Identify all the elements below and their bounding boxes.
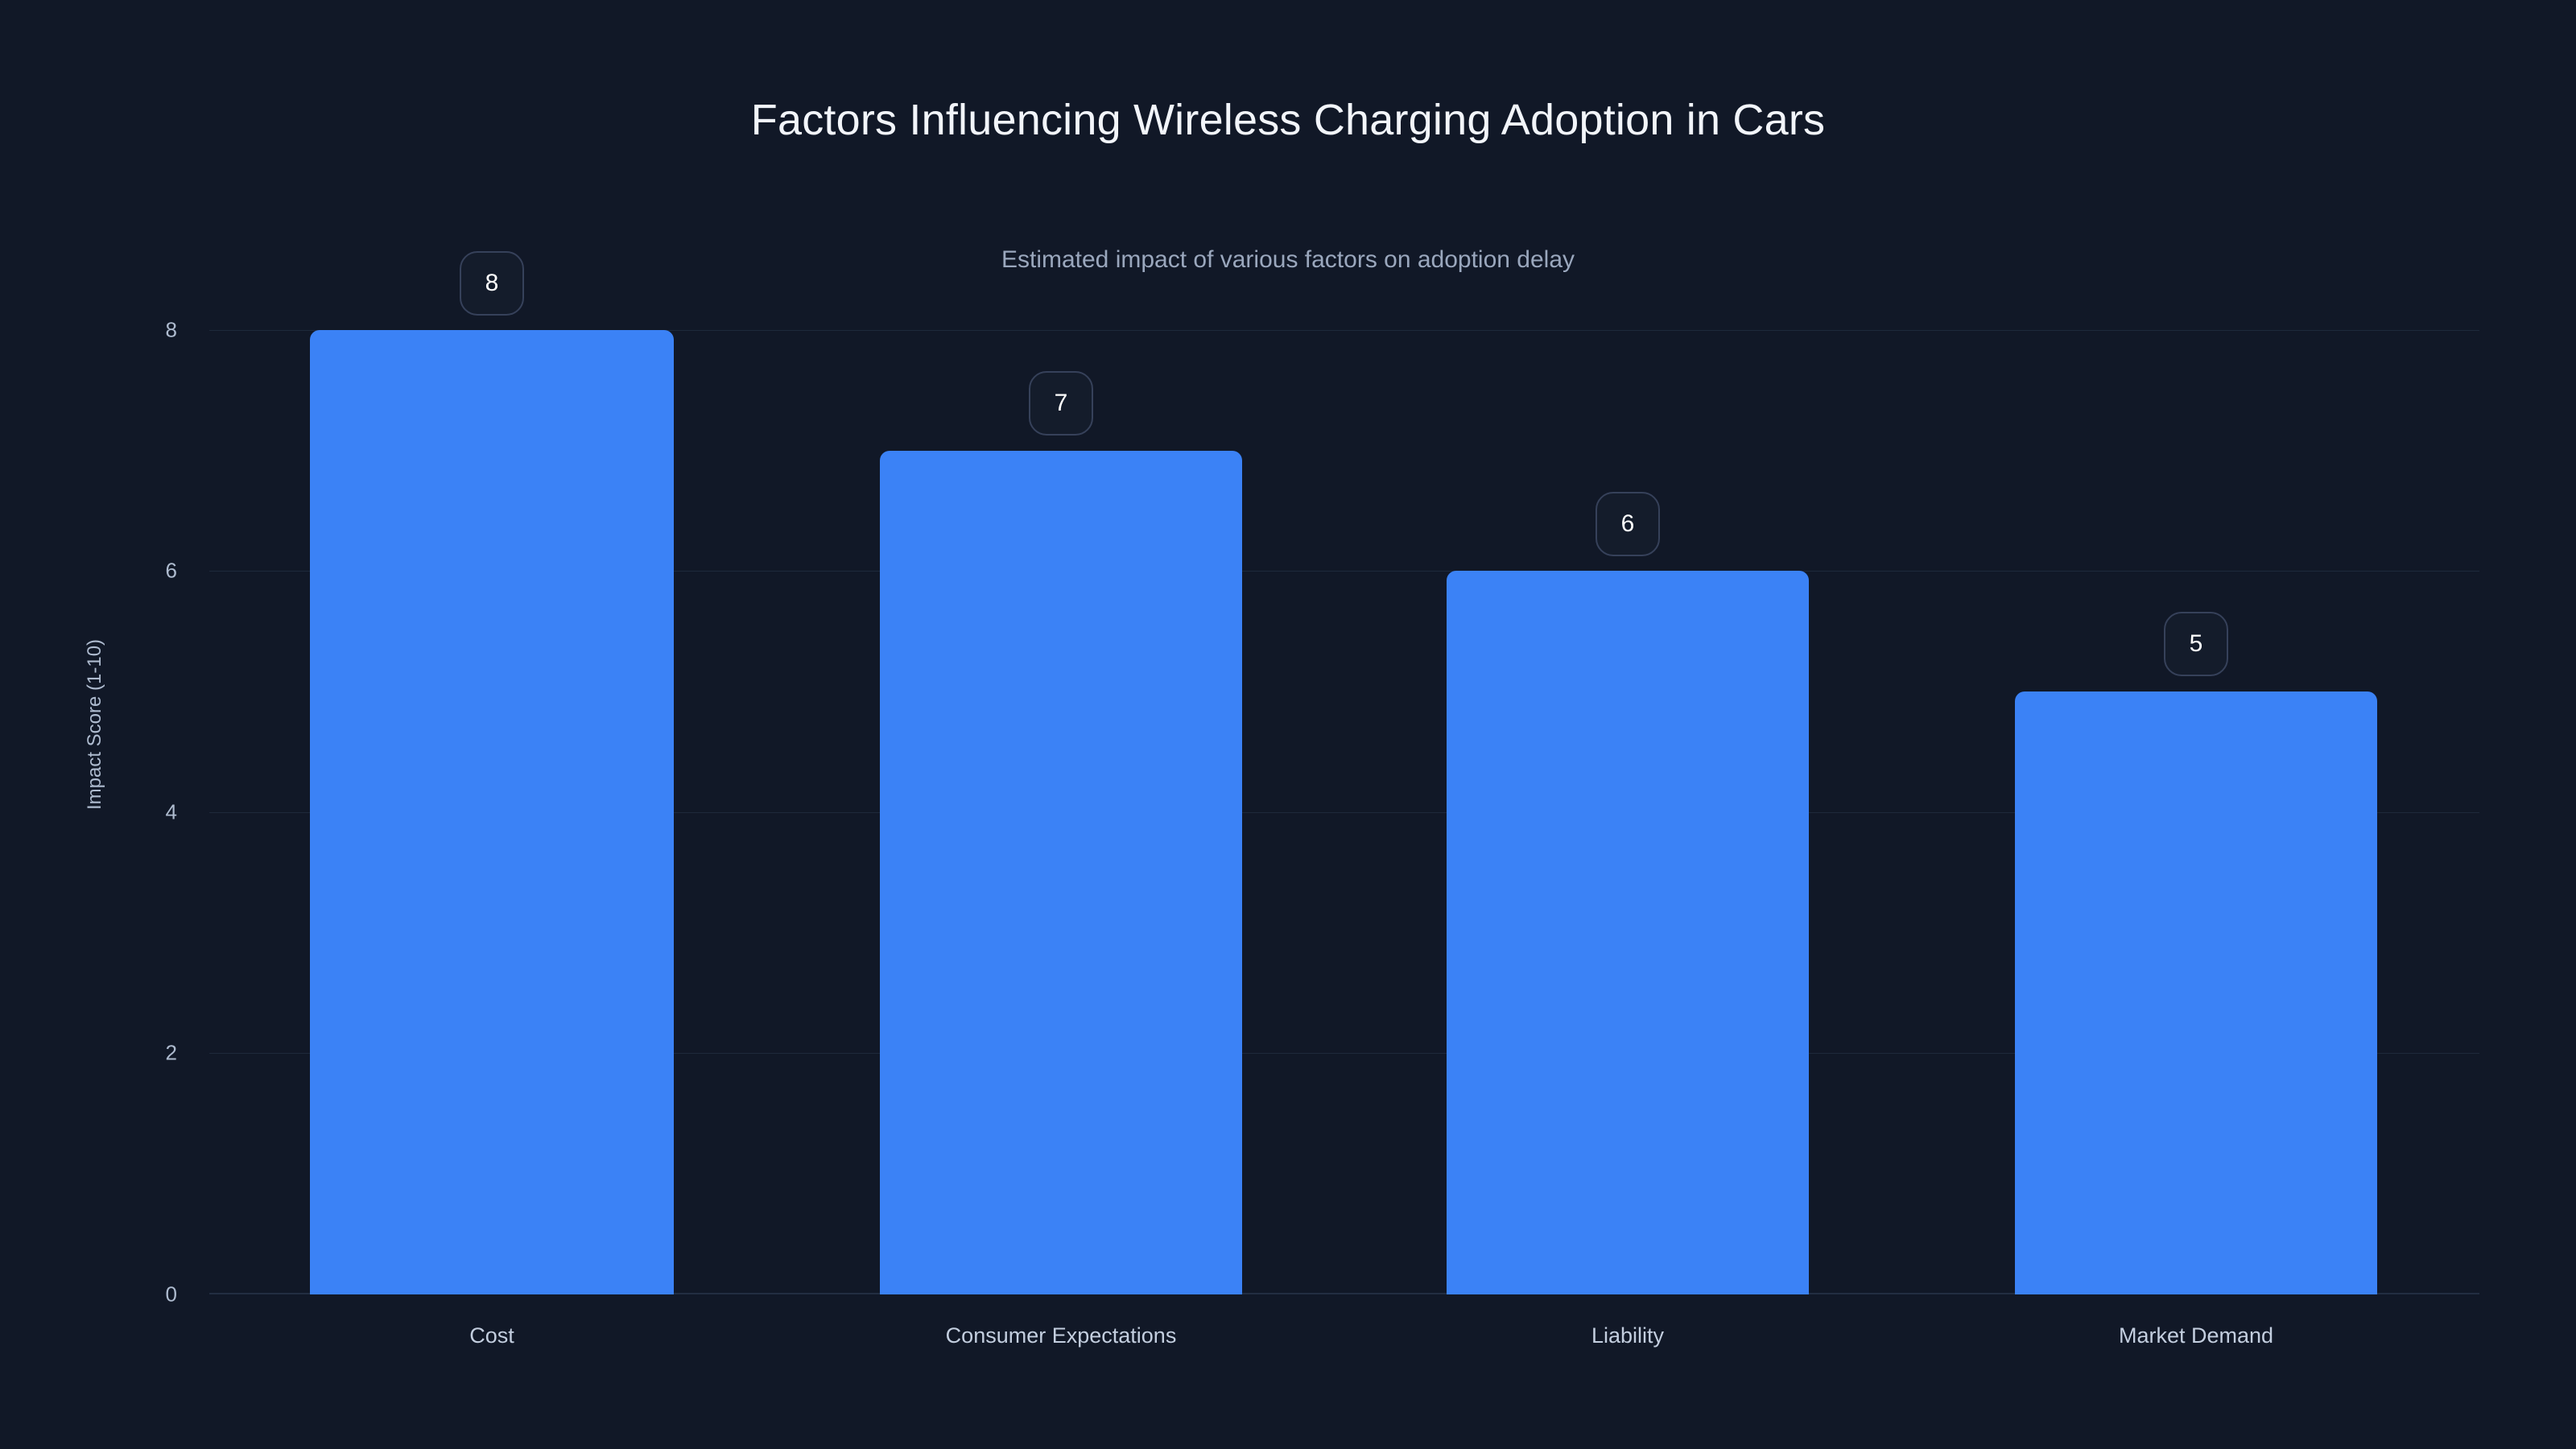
- chart-subtitle: Estimated impact of various factors on a…: [0, 246, 2576, 274]
- bar-chart: Factors Influencing Wireless Charging Ad…: [0, 0, 2576, 1449]
- plot-area: [209, 330, 2479, 1294]
- y-tick-label-4: 4: [105, 800, 177, 825]
- value-badge-liability: 6: [1596, 492, 1660, 556]
- x-label-liability: Liability: [1591, 1323, 1664, 1348]
- x-label-consumer-expectations: Consumer Expectations: [946, 1323, 1177, 1348]
- value-badge-cost: 8: [460, 251, 524, 316]
- y-axis-title: Impact Score (1-10): [84, 639, 106, 810]
- value-badge-consumer-expectations: 7: [1029, 371, 1093, 436]
- bar-consumer-expectations[interactable]: [880, 451, 1242, 1294]
- y-tick-label-2: 2: [105, 1041, 177, 1066]
- chart-title: Factors Influencing Wireless Charging Ad…: [0, 95, 2576, 145]
- value-badge-market-demand: 5: [2164, 612, 2228, 676]
- bar-liability[interactable]: [1447, 571, 1809, 1294]
- bar-market-demand[interactable]: [2015, 691, 2377, 1294]
- x-label-market-demand: Market Demand: [2119, 1323, 2273, 1348]
- y-tick-label-6: 6: [105, 559, 177, 584]
- y-tick-label-8: 8: [105, 318, 177, 343]
- y-tick-label-0: 0: [105, 1282, 177, 1307]
- x-label-cost: Cost: [469, 1323, 514, 1348]
- bar-cost[interactable]: [310, 330, 674, 1294]
